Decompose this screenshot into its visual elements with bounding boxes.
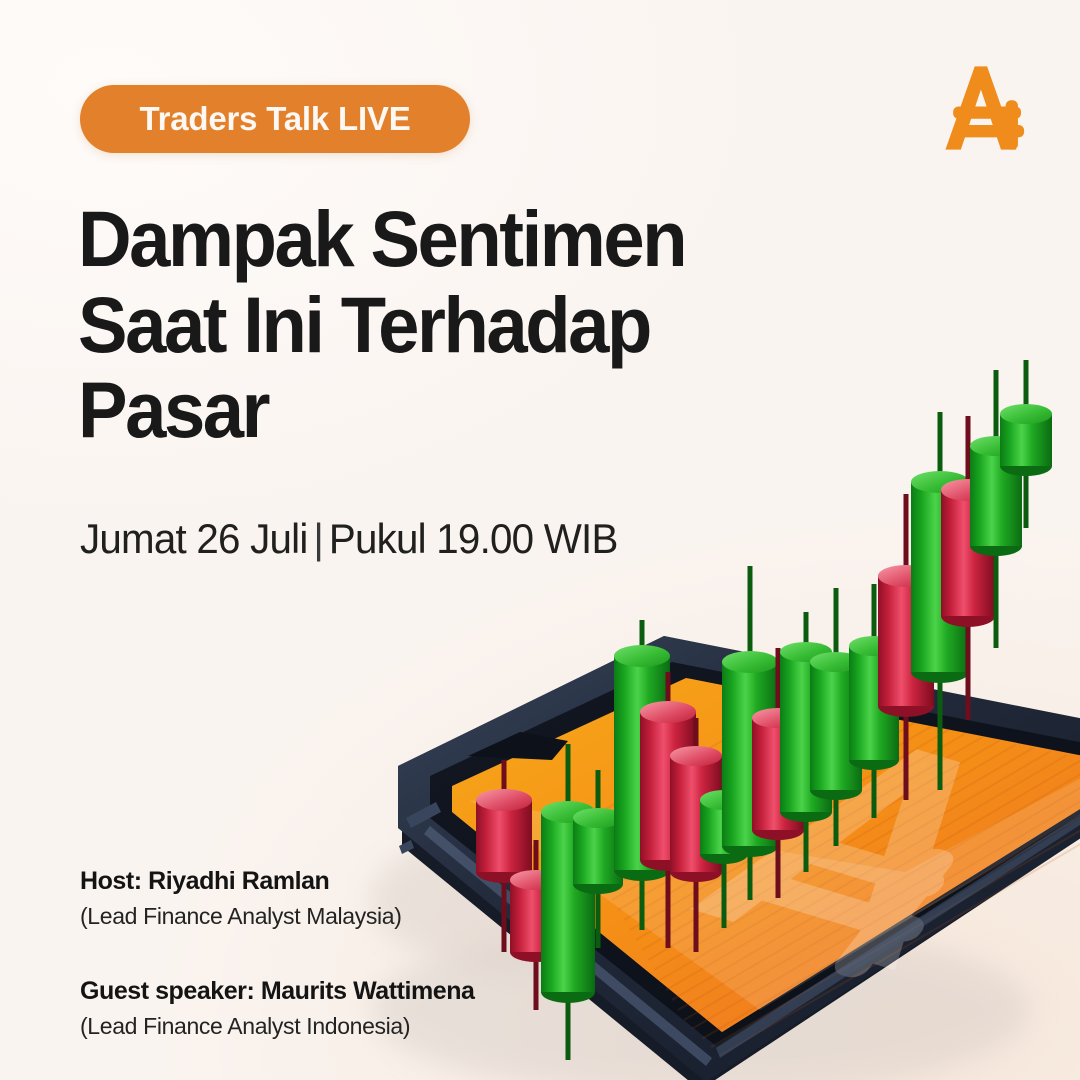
page-title: Dampak Sentimen Saat Ini Terhadap Pasar <box>78 196 792 453</box>
live-badge-label: Traders Talk LIVE <box>139 100 410 138</box>
poster-canvas: Traders Talk LIVE Dampak Sentimen Saat I… <box>0 0 1080 1080</box>
schedule-separator: | <box>308 515 329 563</box>
host-role: (Lead Finance Analyst Malaysia) <box>80 902 550 932</box>
schedule-date: Jumat 26 Juli <box>80 515 308 562</box>
schedule-line: Jumat 26 Juli|Pukul 19.00 WIB <box>80 515 618 563</box>
host-name: Host: Riyadhi Ramlan <box>80 866 550 897</box>
headline-line-1: Dampak Sentimen <box>78 196 792 282</box>
headline-line-2: Saat Ini Terhadap <box>78 282 792 368</box>
schedule-time: Pukul 19.00 WIB <box>329 515 618 562</box>
brand-logo-icon <box>930 52 1038 164</box>
guest-role: (Lead Finance Analyst Indonesia) <box>80 1012 550 1042</box>
guest-credit: Guest speaker: Maurits Wattimena (Lead F… <box>80 976 550 1042</box>
poster-content: Traders Talk LIVE Dampak Sentimen Saat I… <box>0 0 1080 1080</box>
headline-line-3: Pasar <box>78 367 792 453</box>
credits-block: Host: Riyadhi Ramlan (Lead Finance Analy… <box>80 866 550 1042</box>
host-credit: Host: Riyadhi Ramlan (Lead Finance Analy… <box>80 866 550 932</box>
live-badge[interactable]: Traders Talk LIVE <box>80 85 470 153</box>
guest-name: Guest speaker: Maurits Wattimena <box>80 976 550 1007</box>
